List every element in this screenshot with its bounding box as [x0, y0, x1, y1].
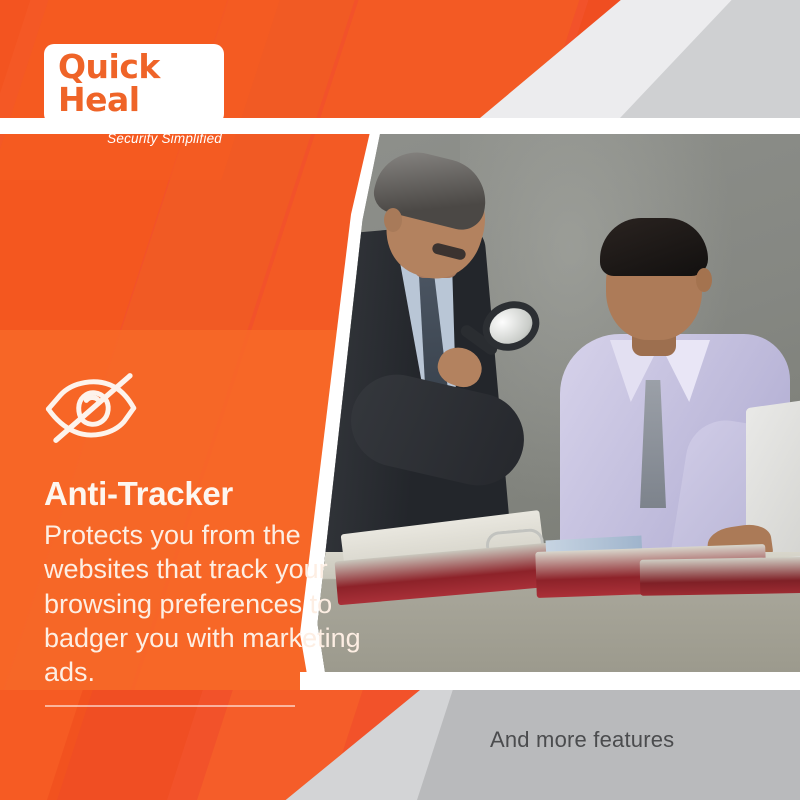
logo-badge: Quick Heal [44, 44, 224, 124]
brand-logo: Quick Heal Security Simplified [44, 44, 224, 146]
footer-caption: And more features [490, 727, 674, 753]
younger-man-hair [600, 218, 708, 276]
feature-description: Protects you from the websites that trac… [44, 518, 364, 689]
bottom-white-separator [300, 672, 800, 690]
page-title: Anti-Tracker [44, 476, 233, 512]
binder-3 [640, 556, 800, 596]
eye-slash-icon [44, 372, 140, 446]
logo-text: Quick Heal [58, 50, 210, 116]
younger-man-ear [696, 268, 712, 292]
photo-scene [310, 134, 800, 672]
promo-card: Quick Heal Security Simplified Anti-Trac… [0, 0, 800, 800]
photo-image [310, 134, 800, 672]
older-man-ear [384, 208, 402, 232]
photo-card [310, 134, 800, 672]
divider [45, 705, 295, 707]
logo-tagline: Security Simplified [44, 131, 224, 146]
